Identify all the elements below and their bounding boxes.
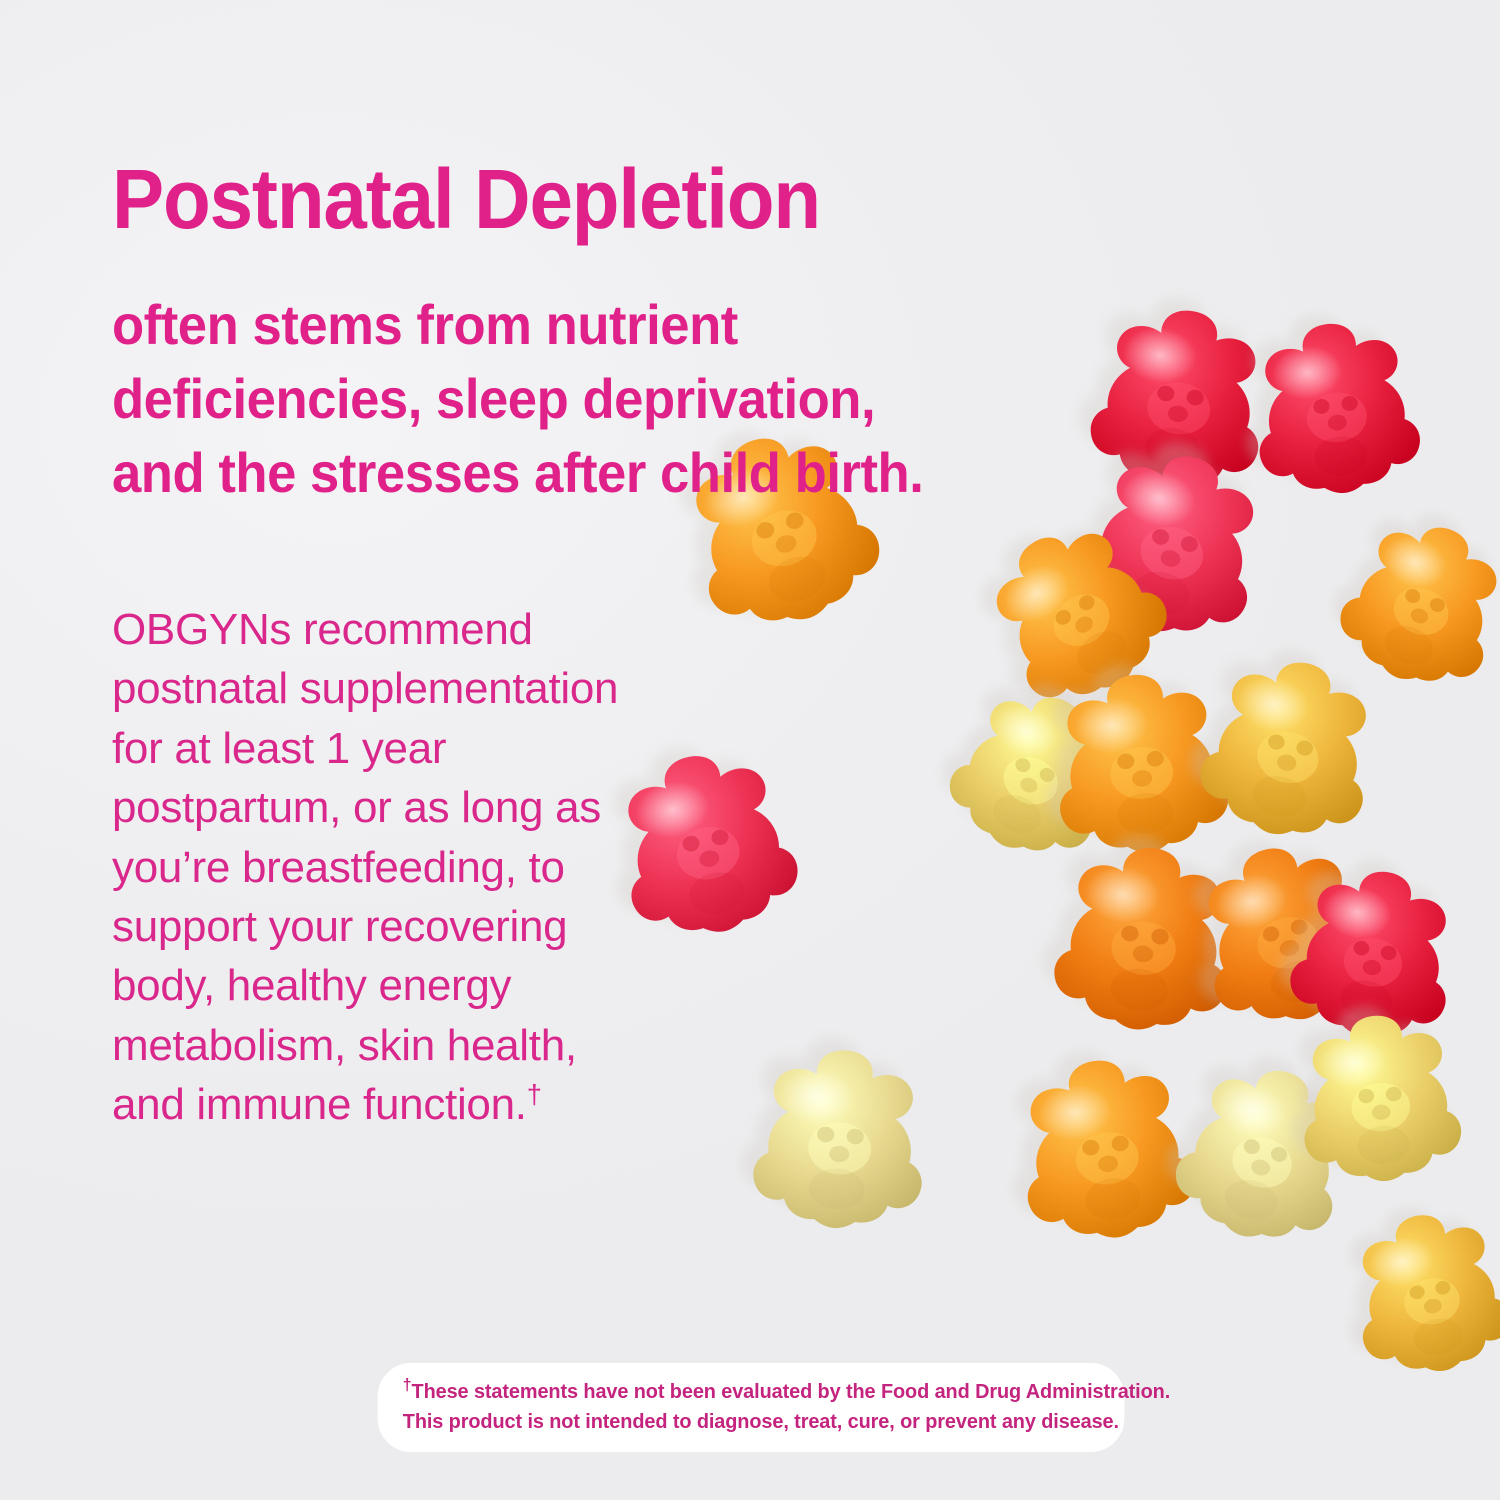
- subheadline-line-3: and the stresses after child birth.: [112, 436, 1071, 510]
- subheadline-line-2: deficiencies, sleep deprivation,: [112, 362, 1071, 436]
- disclaimer-line-2: This product is not intended to diagnose…: [403, 1407, 1099, 1437]
- footnote-dagger-marker: †: [527, 1078, 542, 1109]
- fda-disclaimer: †These statements have not been evaluate…: [378, 1363, 1125, 1452]
- body-line-9-text: and immune function.: [112, 1080, 527, 1129]
- disclaimer-line-1: †These statements have not been evaluate…: [403, 1377, 1099, 1407]
- body-line-2: postnatal supplementation: [112, 659, 732, 718]
- subheadline-line-1: often stems from nutrient: [112, 288, 1071, 362]
- copy-block: Postnatal Depletion often stems from nut…: [0, 0, 1500, 1500]
- body-line-6: support your recovering: [112, 897, 732, 956]
- body-line-1: OBGYNs recommend: [112, 600, 732, 659]
- disclaimer-line-1-text: These statements have not been evaluated…: [412, 1380, 1171, 1403]
- promo-image: Postnatal Depletion often stems from nut…: [0, 0, 1500, 1500]
- body-line-3: for at least 1 year: [112, 719, 732, 778]
- body-paragraph: OBGYNs recommend postnatal supplementati…: [112, 600, 732, 1135]
- body-line-8: metabolism, skin health,: [112, 1016, 732, 1075]
- page-title: Postnatal Depletion: [112, 158, 1042, 240]
- disclaimer-dagger-icon: †: [403, 1376, 412, 1394]
- body-line-7: body, healthy energy: [112, 956, 732, 1015]
- body-line-4: postpartum, or as long as: [112, 778, 732, 837]
- body-line-5: you’re breastfeeding, to: [112, 838, 732, 897]
- body-line-9: and immune function.†: [112, 1075, 732, 1134]
- subheadline: often stems from nutrient deficiencies, …: [112, 288, 1071, 510]
